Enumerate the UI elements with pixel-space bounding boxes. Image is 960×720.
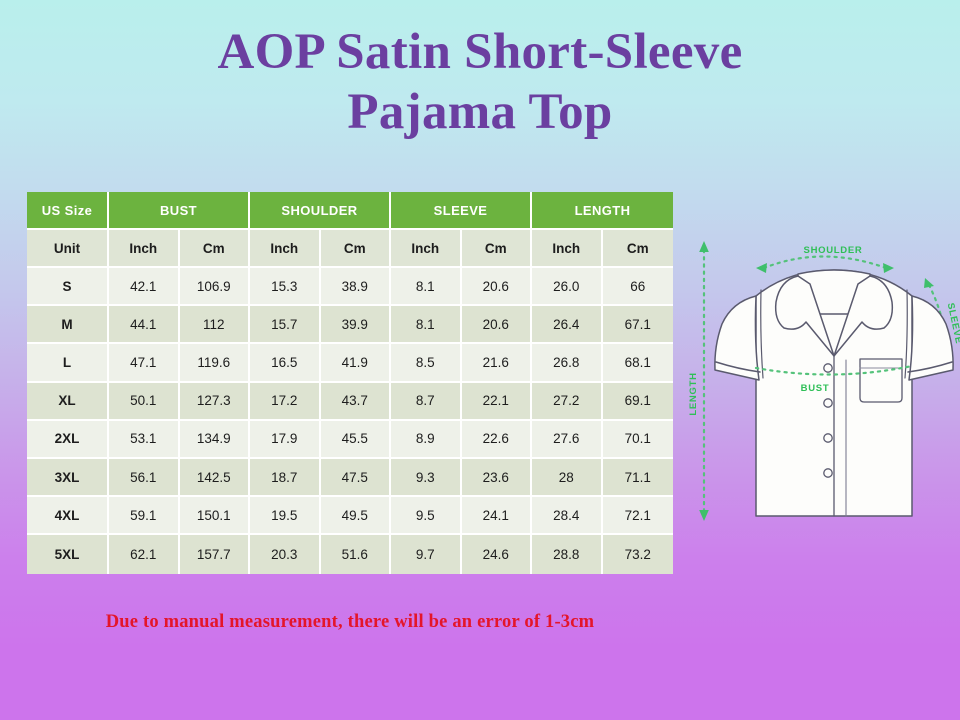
length-label: LENGTH <box>688 372 699 415</box>
cell-bust_in: 56.1 <box>109 459 180 497</box>
cell-size: L <box>27 344 109 382</box>
cell-shoulder_cm: 47.5 <box>321 459 392 497</box>
cell-length_cm: 73.2 <box>603 535 674 573</box>
group-header-bust: BUST <box>109 192 250 230</box>
table-row: M44.111215.739.98.120.626.467.1 <box>27 306 673 344</box>
pajama-top-illustration <box>715 270 953 516</box>
cell-shoulder_cm: 39.9 <box>321 306 392 344</box>
cell-length_in: 27.2 <box>532 383 603 421</box>
button-icon <box>824 364 832 372</box>
cell-length_in: 26.0 <box>532 268 603 306</box>
cell-length_cm: 69.1 <box>603 383 674 421</box>
cell-size: S <box>27 268 109 306</box>
shoulder-label: SHOULDER <box>804 245 863 256</box>
cell-bust_cm: 127.3 <box>180 383 251 421</box>
cell-bust_in: 50.1 <box>109 383 180 421</box>
table-unit-header-row: Unit Inch Cm Inch Cm Inch Cm Inch Cm <box>27 230 673 268</box>
cell-length_cm: 67.1 <box>603 306 674 344</box>
cell-sleeve_cm: 24.1 <box>462 497 533 535</box>
cell-size: M <box>27 306 109 344</box>
cell-bust_cm: 112 <box>180 306 251 344</box>
cell-sleeve_in: 9.7 <box>391 535 462 573</box>
button-icon <box>824 469 832 477</box>
size-chart-table-body: S42.1106.915.338.98.120.626.066M44.11121… <box>27 268 673 574</box>
cell-sleeve_cm: 20.6 <box>462 268 533 306</box>
cell-bust_cm: 142.5 <box>180 459 251 497</box>
measurement-disclaimer: Due to manual measurement, there will be… <box>0 612 700 633</box>
cell-shoulder_in: 15.3 <box>250 268 321 306</box>
unit-header-length-cm: Cm <box>603 230 674 268</box>
cell-shoulder_cm: 49.5 <box>321 497 392 535</box>
cell-sleeve_cm: 21.6 <box>462 344 533 382</box>
unit-header-shoulder-cm: Cm <box>321 230 392 268</box>
cell-sleeve_cm: 20.6 <box>462 306 533 344</box>
cell-sleeve_in: 8.5 <box>391 344 462 382</box>
cell-shoulder_cm: 41.9 <box>321 344 392 382</box>
cell-shoulder_in: 17.2 <box>250 383 321 421</box>
cell-bust_cm: 119.6 <box>180 344 251 382</box>
cell-shoulder_in: 20.3 <box>250 535 321 573</box>
garment-diagram: LENGTH SHOULDER SLEEVE <box>680 228 960 530</box>
cell-sleeve_in: 8.9 <box>391 421 462 459</box>
table-row: XL50.1127.317.243.78.722.127.269.1 <box>27 383 673 421</box>
table-row: S42.1106.915.338.98.120.626.066 <box>27 268 673 306</box>
cell-shoulder_in: 19.5 <box>250 497 321 535</box>
cell-sleeve_cm: 23.6 <box>462 459 533 497</box>
cell-shoulder_cm: 51.6 <box>321 535 392 573</box>
cell-size: 3XL <box>27 459 109 497</box>
cell-bust_cm: 157.7 <box>180 535 251 573</box>
bust-label: BUST <box>801 383 830 394</box>
group-header-length: LENGTH <box>532 192 673 230</box>
cell-length_cm: 72.1 <box>603 497 674 535</box>
table-group-header-row: US Size BUST SHOULDER SLEEVE LENGTH <box>27 192 673 230</box>
cell-sleeve_in: 9.5 <box>391 497 462 535</box>
title-line-1: AOP Satin Short-Sleeve <box>0 22 960 82</box>
table-row: 4XL59.1150.119.549.59.524.128.472.1 <box>27 497 673 535</box>
unit-header-shoulder-inch: Inch <box>250 230 321 268</box>
cell-length_in: 26.8 <box>532 344 603 382</box>
cell-bust_in: 44.1 <box>109 306 180 344</box>
cell-shoulder_in: 17.9 <box>250 421 321 459</box>
cell-sleeve_cm: 24.6 <box>462 535 533 573</box>
button-icon <box>824 434 832 442</box>
cell-bust_in: 42.1 <box>109 268 180 306</box>
cell-length_cm: 66 <box>603 268 674 306</box>
size-chart-table-container: US Size BUST SHOULDER SLEEVE LENGTH Unit… <box>27 192 673 574</box>
cell-length_cm: 68.1 <box>603 344 674 382</box>
cell-shoulder_in: 16.5 <box>250 344 321 382</box>
cell-size: 4XL <box>27 497 109 535</box>
cell-bust_in: 47.1 <box>109 344 180 382</box>
cell-sleeve_in: 8.7 <box>391 383 462 421</box>
group-header-us-size: US Size <box>27 192 109 230</box>
cell-length_in: 28.8 <box>532 535 603 573</box>
cell-bust_in: 62.1 <box>109 535 180 573</box>
cell-shoulder_in: 15.7 <box>250 306 321 344</box>
title-line-2: Pajama Top <box>0 82 960 142</box>
cell-shoulder_cm: 43.7 <box>321 383 392 421</box>
cell-sleeve_in: 8.1 <box>391 268 462 306</box>
group-header-shoulder: SHOULDER <box>250 192 391 230</box>
cell-size: XL <box>27 383 109 421</box>
cell-length_in: 26.4 <box>532 306 603 344</box>
cell-length_in: 28.4 <box>532 497 603 535</box>
unit-header-sleeve-inch: Inch <box>391 230 462 268</box>
unit-header-sleeve-cm: Cm <box>462 230 533 268</box>
table-row: L47.1119.616.541.98.521.626.868.1 <box>27 344 673 382</box>
cell-bust_cm: 106.9 <box>180 268 251 306</box>
cell-sleeve_cm: 22.6 <box>462 421 533 459</box>
cell-sleeve_cm: 22.1 <box>462 383 533 421</box>
page-title: AOP Satin Short-Sleeve Pajama Top <box>0 22 960 142</box>
button-icon <box>824 399 832 407</box>
table-row: 3XL56.1142.518.747.59.323.62871.1 <box>27 459 673 497</box>
cell-length_in: 28 <box>532 459 603 497</box>
cell-shoulder_in: 18.7 <box>250 459 321 497</box>
cell-length_in: 27.6 <box>532 421 603 459</box>
cell-length_cm: 71.1 <box>603 459 674 497</box>
cell-shoulder_cm: 45.5 <box>321 421 392 459</box>
unit-header-length-inch: Inch <box>532 230 603 268</box>
cell-length_cm: 70.1 <box>603 421 674 459</box>
cell-shoulder_cm: 38.9 <box>321 268 392 306</box>
cell-bust_in: 53.1 <box>109 421 180 459</box>
cell-bust_in: 59.1 <box>109 497 180 535</box>
unit-header-bust-inch: Inch <box>109 230 180 268</box>
table-row: 5XL62.1157.720.351.69.724.628.873.2 <box>27 535 673 573</box>
table-row: 2XL53.1134.917.945.58.922.627.670.1 <box>27 421 673 459</box>
group-header-sleeve: SLEEVE <box>391 192 532 230</box>
unit-header-bust-cm: Cm <box>180 230 251 268</box>
cell-bust_cm: 134.9 <box>180 421 251 459</box>
unit-header-unit: Unit <box>27 230 109 268</box>
cell-sleeve_in: 8.1 <box>391 306 462 344</box>
cell-size: 2XL <box>27 421 109 459</box>
length-measure-arrow <box>699 241 709 521</box>
cell-sleeve_in: 9.3 <box>391 459 462 497</box>
size-chart-table: US Size BUST SHOULDER SLEEVE LENGTH Unit… <box>27 192 673 574</box>
cell-size: 5XL <box>27 535 109 573</box>
cell-bust_cm: 150.1 <box>180 497 251 535</box>
